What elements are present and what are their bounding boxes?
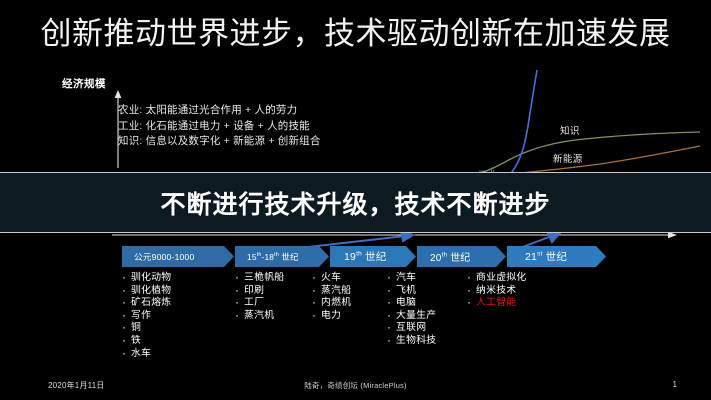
technology-column-3: 火车 蒸汽船 内燃机 电力: [312, 272, 351, 322]
timeline-period-1-label: 公元9000-1000: [122, 251, 195, 263]
list-item: 电脑: [387, 297, 436, 310]
overlay-banner-text: 不断进行技术升级，技术不断进步: [160, 185, 550, 221]
timeline-periods: 公元9000-1000 15th-18th 世纪 19th 世纪 20th 世纪…: [122, 246, 682, 268]
list-item: 互联网: [387, 322, 436, 335]
list-item: 矿石熔炼: [122, 297, 171, 310]
list-item: 三桅帆船: [235, 272, 284, 285]
list-item: 印刷: [235, 285, 284, 298]
definition-agriculture: 农业: 太阳能通过光合作用 + 人的劳力: [118, 103, 321, 119]
list-item: 汽车: [387, 272, 436, 285]
list-item: 铁: [122, 335, 171, 348]
technology-column-2: 三桅帆船 印刷 工厂 蒸汽机: [235, 272, 284, 322]
definition-knowledge: 知识: 信息以及数字化 + 新能源 + 创新组合: [118, 134, 321, 150]
curve-label-knowledge: 知识: [560, 123, 580, 137]
slide-canvas: 创新推动世界进步，技术驱动创新在加速发展 经济规模 农业: 太阳能通过光合作用 …: [0, 0, 711, 400]
timeline-period-2[interactable]: 15th-18th 世纪: [235, 246, 329, 267]
y-axis-label: 经济规模: [62, 76, 106, 91]
list-item: 驯化植物: [122, 285, 171, 298]
list-item: 铜: [122, 322, 171, 335]
list-item: 工厂: [235, 297, 284, 310]
list-item: 水车: [122, 348, 171, 361]
list-item: 飞机: [387, 285, 436, 298]
curve-label-new-energy: 新能源: [553, 151, 583, 165]
list-item: 驯化动物: [122, 272, 171, 285]
overlay-banner: 不断进行技术升级，技术不断进步: [0, 172, 711, 233]
list-item: 火车: [312, 272, 351, 285]
list-item-highlighted: 人工智能: [467, 297, 526, 310]
timeline-period-3[interactable]: 19th 世纪: [330, 246, 416, 267]
timeline-period-1[interactable]: 公元9000-1000: [122, 246, 234, 267]
footer-attribution: 陆奇，奇绩创坛 (MiraclePlus): [0, 380, 711, 391]
timeline-period-4-label: 20th 世纪: [417, 249, 470, 264]
list-item: 生物科技: [387, 335, 436, 348]
technology-columns: 驯化动物 驯化植物 矿石熔炼 写作 铜 铁 水车 三桅帆船 印刷 工厂 蒸汽机 …: [122, 272, 692, 367]
slide-title: 创新推动世界进步，技术驱动创新在加速发展: [0, 14, 711, 54]
list-item: 纳米技术: [467, 285, 526, 298]
list-item: 内燃机: [312, 297, 351, 310]
timeline-period-5[interactable]: 21st 世纪: [507, 246, 606, 267]
list-item: 电力: [312, 310, 351, 323]
list-item: 蒸汽船: [312, 285, 351, 298]
timeline-period-5-label: 21st 世纪: [507, 249, 567, 264]
list-item: 写作: [122, 310, 171, 323]
timeline-period-3-label: 19th 世纪: [330, 249, 386, 264]
footer-page-number: 1: [673, 380, 677, 389]
definition-industry: 工业: 化石能通过电力 + 设备 + 人的技能: [118, 119, 321, 135]
list-item: 大量生产: [387, 310, 436, 323]
timeline-period-4[interactable]: 20th 世纪: [417, 246, 506, 267]
list-item: 商业虚拟化: [467, 272, 526, 285]
slide-footer: 2020年1月11日 陆奇，奇绩创坛 (MiraclePlus) 1: [0, 374, 711, 400]
timeline-period-2-label: 15th-18th 世纪: [235, 251, 299, 263]
definition-list: 农业: 太阳能通过光合作用 + 人的劳力 工业: 化石能通过电力 + 设备 + …: [118, 103, 321, 150]
technology-column-5: 商业虚拟化 纳米技术 人工智能: [467, 272, 526, 310]
list-item: 蒸汽机: [235, 310, 284, 323]
technology-column-4: 汽车 飞机 电脑 大量生产 互联网 生物科技: [387, 272, 436, 348]
technology-column-1: 驯化动物 驯化植物 矿石熔炼 写作 铜 铁 水车: [122, 272, 171, 360]
